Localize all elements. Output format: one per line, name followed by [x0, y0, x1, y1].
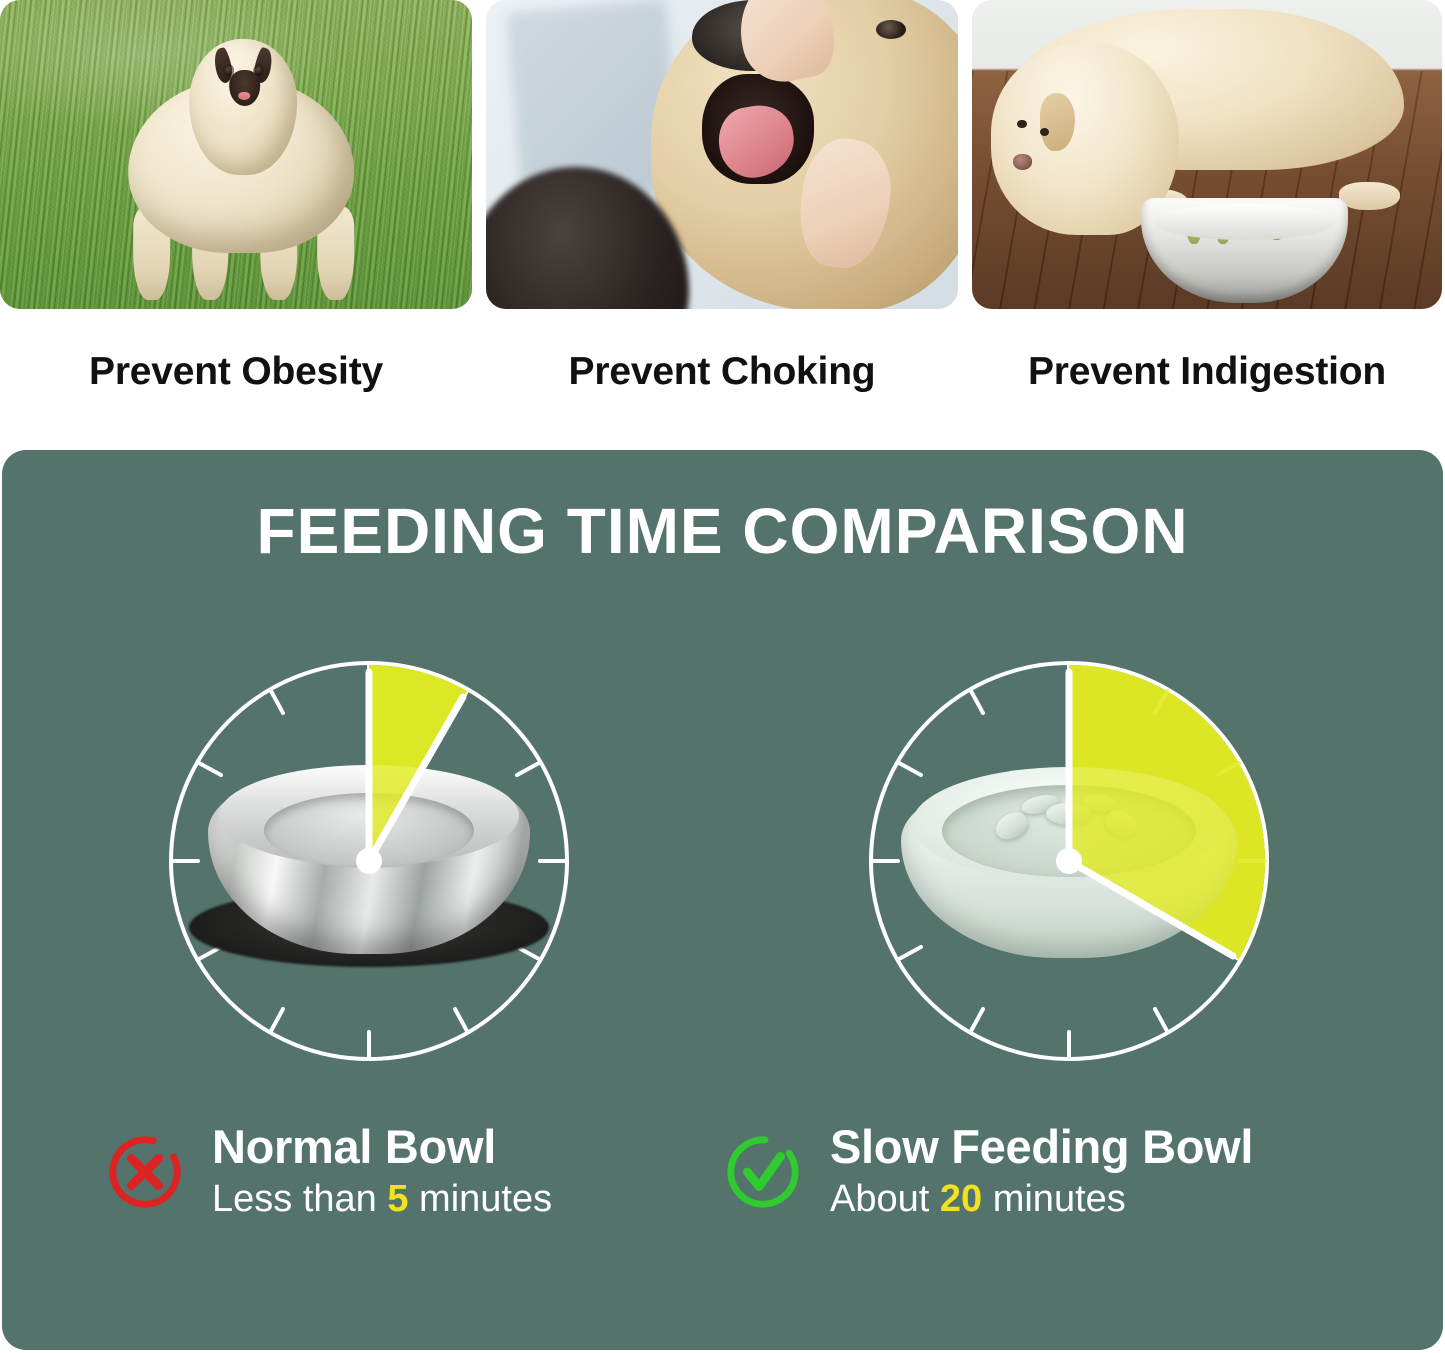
feeder-ridge [992, 809, 1032, 844]
pug-illustration [118, 28, 363, 306]
kibble [1187, 212, 1201, 244]
pug-muzzle [229, 70, 260, 105]
pug-head [189, 39, 297, 175]
pug-eye [225, 66, 232, 76]
label-sub-normal-bowl: Less than 5 minutes [212, 1177, 552, 1222]
sub-value-slow: 20 [940, 1178, 982, 1220]
comparison-label-row: Normal Bowl Less than 5 minutes Slow Fee… [2, 1122, 1443, 1272]
benefit-photo-prevent-obesity [0, 0, 472, 309]
benefit-photo-prevent-choking [486, 0, 958, 309]
benefit-caption-row: Prevent Obesity Prevent Choking Prevent … [0, 309, 1445, 434]
labrador-ear [1040, 93, 1076, 150]
sub-suffix-slow: minutes [982, 1178, 1126, 1220]
feeder-basin [942, 785, 1196, 877]
benefit-photo-prevent-indigestion [972, 0, 1442, 309]
sub-value-normal: 5 [387, 1178, 408, 1220]
label-title-slow-bowl: Slow Feeding Bowl [830, 1122, 1253, 1173]
golden-retriever-head [651, 0, 958, 309]
labrador-eye [1017, 120, 1026, 128]
dog-eye [876, 20, 907, 39]
bowl-inner-well [264, 793, 473, 868]
label-slow-feeding-bowl: Slow Feeding Bowl About 20 minutes [724, 1122, 1253, 1222]
feeder-center-post [1046, 803, 1092, 825]
label-title-normal-bowl: Normal Bowl [212, 1122, 552, 1173]
benefit-photo-strip [0, 0, 1445, 309]
labrador-eye [1040, 128, 1049, 136]
clock-normal-bowl [154, 646, 584, 1076]
check-mark-icon [724, 1133, 802, 1211]
stainless-steel-bowl-graphic [182, 756, 556, 976]
caption-prevent-choking: Prevent Choking [486, 309, 958, 434]
sub-suffix-normal: minutes [408, 1178, 552, 1220]
clock-slow-feeding-bowl [854, 646, 1284, 1076]
sub-prefix-normal: Less than [212, 1178, 387, 1220]
label-normal-bowl: Normal Bowl Less than 5 minutes [106, 1122, 552, 1222]
slow-feeder-bowl-graphic [882, 756, 1256, 976]
cross-mark-icon [106, 1133, 184, 1211]
label-text-normal-bowl: Normal Bowl Less than 5 minutes [212, 1122, 552, 1222]
label-sub-slow-bowl: About 20 minutes [830, 1177, 1253, 1222]
labrador-paw [1339, 182, 1400, 210]
sub-prefix-slow: About [830, 1178, 940, 1220]
kibble [1216, 212, 1230, 244]
clock-row [2, 646, 1443, 1076]
label-text-slow-bowl: Slow Feeding Bowl About 20 minutes [830, 1122, 1253, 1222]
kibble [1269, 208, 1283, 240]
panel-title: FEEDING TIME COMPARISON [2, 494, 1443, 568]
feeding-time-comparison-panel: FEEDING TIME COMPARISON [2, 450, 1443, 1350]
labrador-nose [1013, 154, 1032, 169]
caption-prevent-indigestion: Prevent Indigestion [972, 309, 1442, 434]
caption-prevent-obesity: Prevent Obesity [0, 309, 472, 434]
